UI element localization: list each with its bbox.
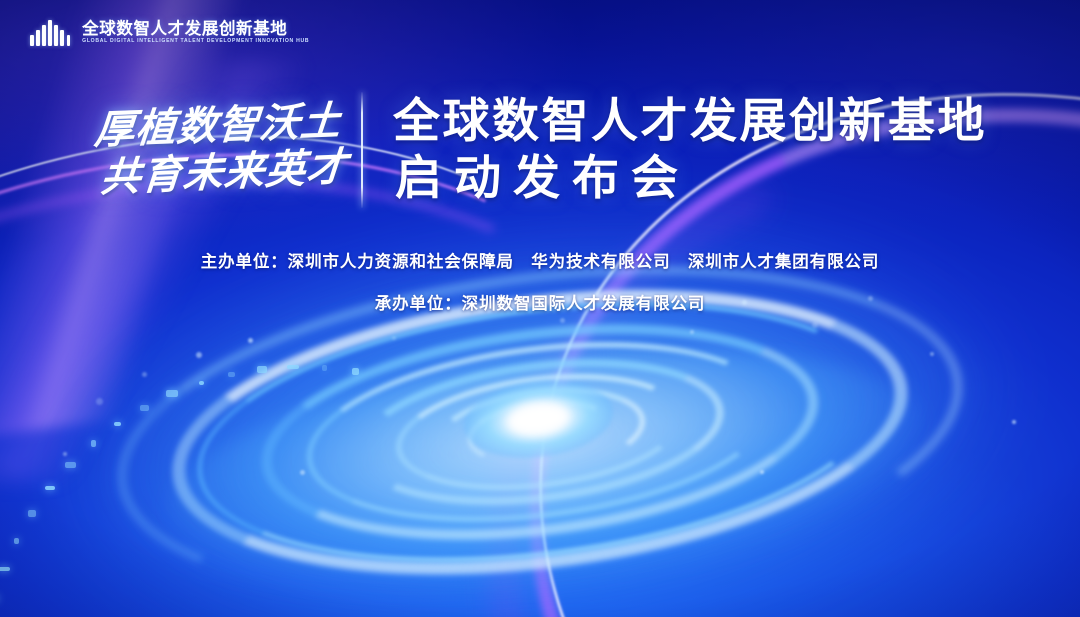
- event-title-line-2: 启动发布会: [393, 153, 987, 204]
- hero-inner: 厚植数智沃土 共育未来英才 全球数智人才发展创新基地 启动发布会: [93, 92, 987, 208]
- light-particle: [228, 372, 235, 378]
- sparkle-particle: [142, 372, 147, 377]
- light-particle: [322, 365, 327, 371]
- vortex-ring-9: [464, 392, 616, 471]
- sparkle-particle: [96, 398, 103, 405]
- light-particle: [45, 486, 54, 490]
- sparkle-particle: [930, 352, 934, 356]
- event-titles: 全球数智人才发展创新基地 启动发布会: [363, 96, 987, 204]
- logo-bar-3: [42, 25, 46, 46]
- vortex-ring-3: [182, 267, 897, 597]
- light-particle: [28, 510, 35, 517]
- dotted-light-arc: [0, 355, 300, 617]
- violet-diagonal-streak-top-left: [0, 0, 330, 447]
- light-particle: [287, 365, 299, 369]
- sparkle-particle: [300, 470, 305, 475]
- light-particle: [140, 405, 149, 411]
- vortex-outer-glow: [26, 144, 1055, 617]
- calligraphy-slogan: 厚植数智沃土 共育未来英才: [93, 106, 361, 194]
- light-particle: [199, 381, 204, 385]
- sparkle-particle: [63, 452, 67, 456]
- logo-bar-5: [54, 25, 58, 46]
- equalizer-bars-logo-icon: [30, 20, 70, 46]
- light-particle: [114, 422, 121, 426]
- host-organizations-line: 主办单位：深圳市人力资源和社会保障局 华为技术有限公司 深圳市人才集团有限公司: [201, 248, 880, 272]
- hero-block: 厚植数智沃土 共育未来英才 全球数智人才发展创新基地 启动发布会: [0, 92, 1080, 208]
- sparkle-particle: [812, 322, 818, 328]
- brand-logo-text: 全球数智人才发展创新基地 GLOBAL DIGITAL INTELLIGENT …: [82, 21, 309, 45]
- light-particle: [352, 368, 359, 375]
- sparkle-particle: [690, 330, 694, 334]
- logo-bar-1: [30, 35, 34, 46]
- logo-bar-4: [48, 20, 52, 46]
- logo-bar-7: [67, 35, 71, 46]
- vortex-ring-7: [389, 359, 690, 506]
- vortex-core-glow: [459, 372, 617, 466]
- vortex-ring-8: [430, 376, 651, 487]
- brand-logo[interactable]: 全球数智人才发展创新基地 GLOBAL DIGITAL INTELLIGENT …: [30, 20, 309, 46]
- vortex-core-highlight: [506, 400, 571, 437]
- light-particle: [14, 538, 19, 544]
- light-particle: [65, 462, 77, 468]
- brand-name-en: GLOBAL DIGITAL INTELLIGENT TALENT DEVELO…: [82, 39, 309, 45]
- vortex-ring-5: [296, 318, 783, 546]
- light-particle: [0, 567, 10, 571]
- vortex-lower-plate-glow: [154, 314, 934, 615]
- event-backdrop-canvas: 全球数智人才发展创新基地 GLOBAL DIGITAL INTELLIGENT …: [0, 0, 1080, 617]
- organizer-organization-line: 承办单位：深圳数智国际人才发展有限公司: [375, 290, 706, 314]
- sparkle-particle: [392, 336, 396, 340]
- sparkle-particle: [196, 352, 202, 358]
- brand-name-cn: 全球数智人才发展创新基地: [82, 21, 309, 38]
- event-title-line-1: 全球数智人才发展创新基地: [393, 96, 987, 147]
- sparkle-particle: [760, 470, 764, 474]
- light-particle: [257, 366, 266, 373]
- light-particle: [166, 390, 178, 397]
- light-particle: [91, 440, 96, 447]
- sparkle-particle: [248, 338, 253, 343]
- organizer-credits: 主办单位：深圳市人力资源和社会保障局 华为技术有限公司 深圳市人才集团有限公司 …: [0, 248, 1080, 314]
- logo-bar-2: [36, 30, 40, 46]
- vortex-ring-4: [250, 296, 831, 569]
- sparkle-particle: [560, 318, 565, 323]
- slogan-line-2: 共育未来英才: [99, 147, 349, 199]
- sparkle-particle: [1012, 420, 1016, 424]
- logo-bar-6: [60, 30, 64, 46]
- vortex-ring-6: [348, 340, 732, 524]
